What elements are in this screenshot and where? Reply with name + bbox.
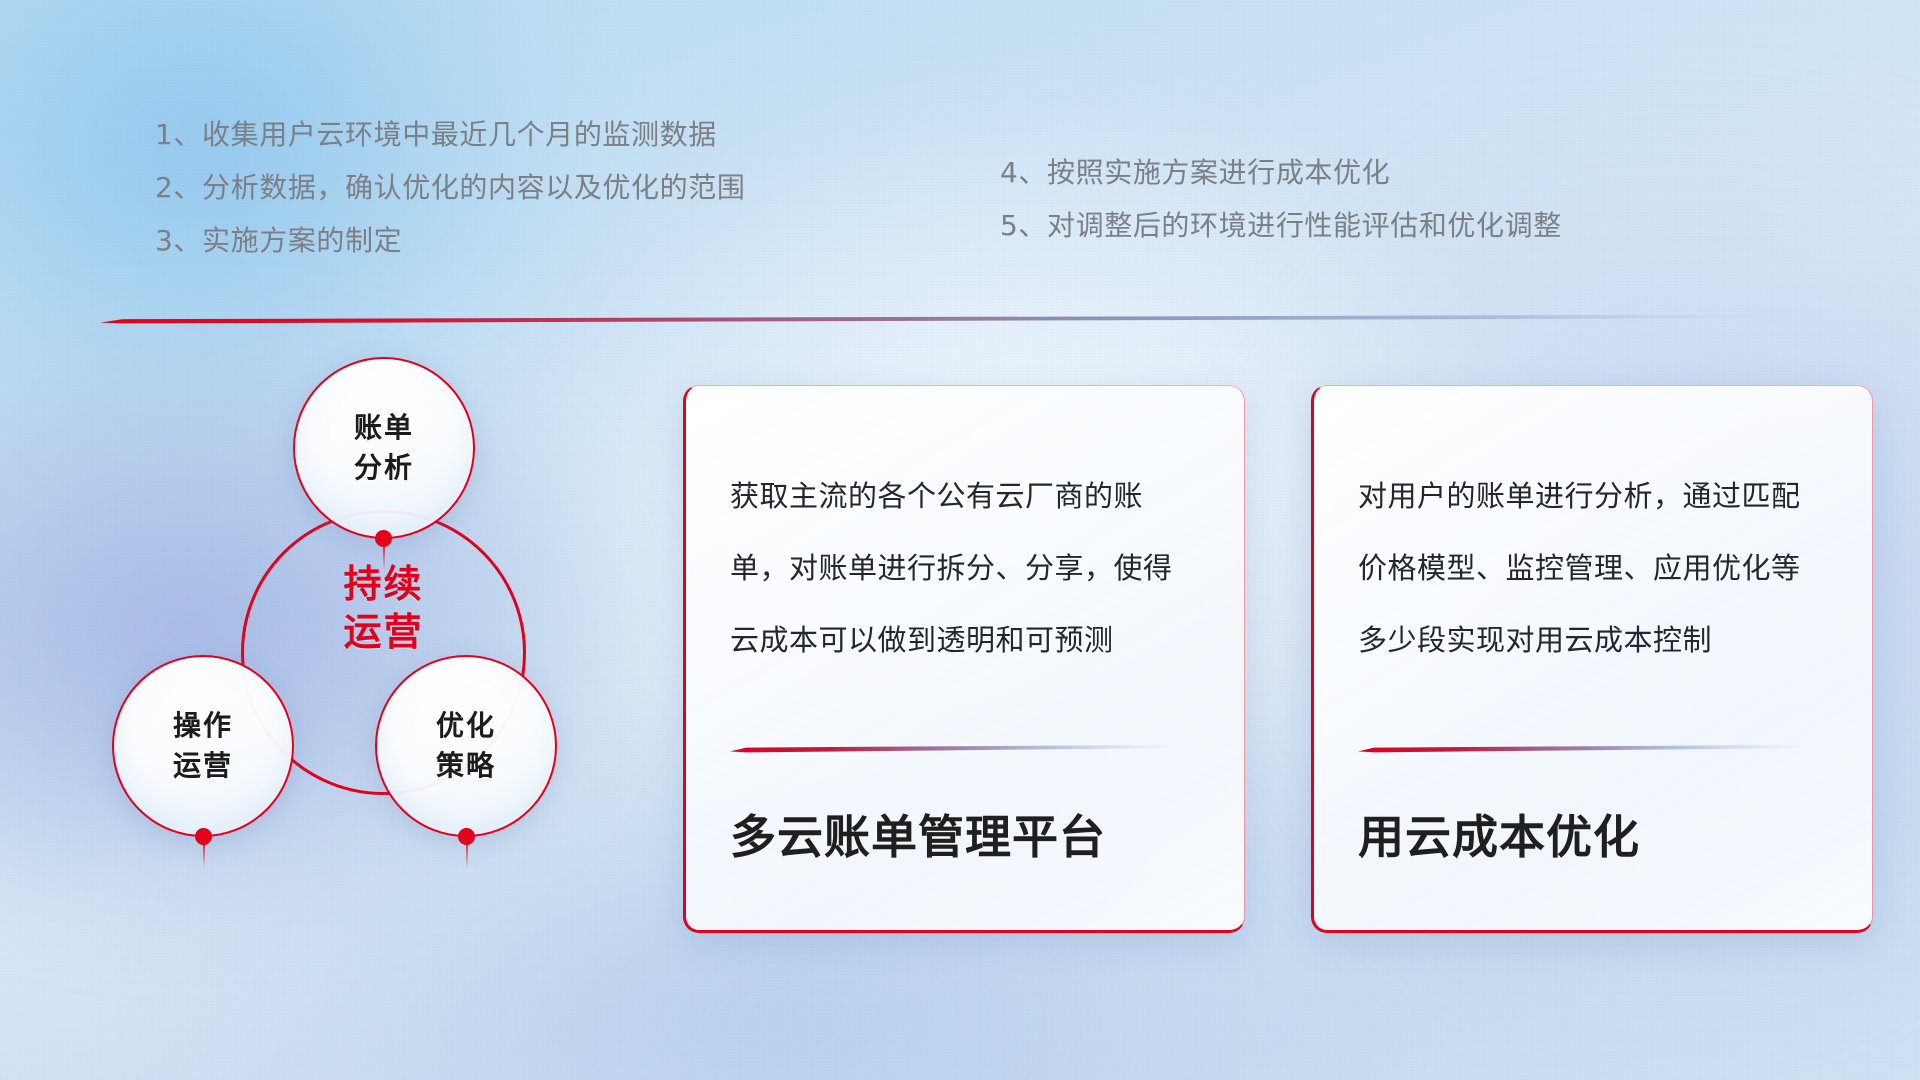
diagram-node-optimization-strategy-line1: 优化 — [436, 706, 496, 746]
step-item-5: 5、对调整后的环境进行性能评估和优化调整 — [1000, 199, 1562, 252]
diagram-node-operations-line1: 操作 — [173, 706, 233, 746]
continuous-operation-diagram: 持续 运营 账单 分析 操作 运营 优化 策略 — [100, 350, 660, 940]
steps-column-left: 1、收集用户云环境中最近几个月的监测数据 2、分析数据，确认优化的内容以及优化的… — [155, 108, 745, 267]
diagram-node-dot-top-icon — [375, 530, 392, 547]
steps-divider — [100, 312, 1760, 324]
diagram-node-dot-right-icon — [458, 828, 475, 845]
step-item-2: 2、分析数据，确认优化的内容以及优化的范围 — [155, 161, 745, 214]
steps-divider-shape — [100, 313, 1760, 325]
diagram-node-dot-left-icon — [195, 828, 212, 845]
card-multicloud-bill-platform[interactable]: 获取主流的各个公有云厂商的账单，对账单进行拆分、分享，使得云成本可以做到透明和可… — [683, 385, 1245, 933]
diagram-node-tail-top-icon — [383, 544, 385, 570]
step-item-4: 4、按照实施方案进行成本优化 — [1000, 146, 1562, 199]
diagram-node-operations[interactable]: 操作 运营 — [112, 655, 294, 837]
diagram-center-label: 持续 运营 — [241, 560, 526, 656]
diagram-node-optimization-strategy-line2: 策略 — [436, 746, 496, 786]
card-cloud-cost-optimization-divider — [1358, 740, 1810, 749]
diagram-node-bill-analysis-line2: 分析 — [354, 448, 414, 488]
diagram-node-tail-right-icon — [466, 842, 468, 868]
diagram-node-optimization-strategy[interactable]: 优化 策略 — [375, 655, 557, 837]
steps-list: 1、收集用户云环境中最近几个月的监测数据 2、分析数据，确认优化的内容以及优化的… — [0, 108, 1920, 288]
step-item-3: 3、实施方案的制定 — [155, 214, 745, 267]
steps-column-right: 4、按照实施方案进行成本优化 5、对调整后的环境进行性能评估和优化调整 — [1000, 146, 1562, 252]
card-multicloud-bill-platform-body: 获取主流的各个公有云厂商的账单，对账单进行拆分、分享，使得云成本可以做到透明和可… — [730, 460, 1200, 692]
card-multicloud-bill-platform-divider — [730, 740, 1182, 749]
card-divider-shape — [1358, 744, 1810, 753]
feature-cards: 获取主流的各个公有云厂商的账单，对账单进行拆分、分享，使得云成本可以做到透明和可… — [683, 385, 1873, 933]
card-divider-shape — [730, 744, 1182, 753]
card-cloud-cost-optimization-body: 对用户的账单进行分析，通过匹配价格模型、监控管理、应用优化等多少段实现对用云成本… — [1358, 460, 1828, 692]
diagram-node-bill-analysis[interactable]: 账单 分析 — [293, 357, 475, 539]
diagram-node-operations-line2: 运营 — [173, 746, 233, 786]
card-cloud-cost-optimization[interactable]: 对用户的账单进行分析，通过匹配价格模型、监控管理、应用优化等多少段实现对用云成本… — [1311, 385, 1873, 933]
card-multicloud-bill-platform-title: 多云账单管理平台 — [730, 809, 1200, 865]
step-item-1: 1、收集用户云环境中最近几个月的监测数据 — [155, 108, 745, 161]
diagram-node-bill-analysis-line1: 账单 — [354, 408, 414, 448]
card-cloud-cost-optimization-title: 用云成本优化 — [1358, 809, 1828, 865]
diagram-center-label-line2: 运营 — [241, 608, 526, 656]
diagram-node-tail-left-icon — [203, 842, 205, 868]
